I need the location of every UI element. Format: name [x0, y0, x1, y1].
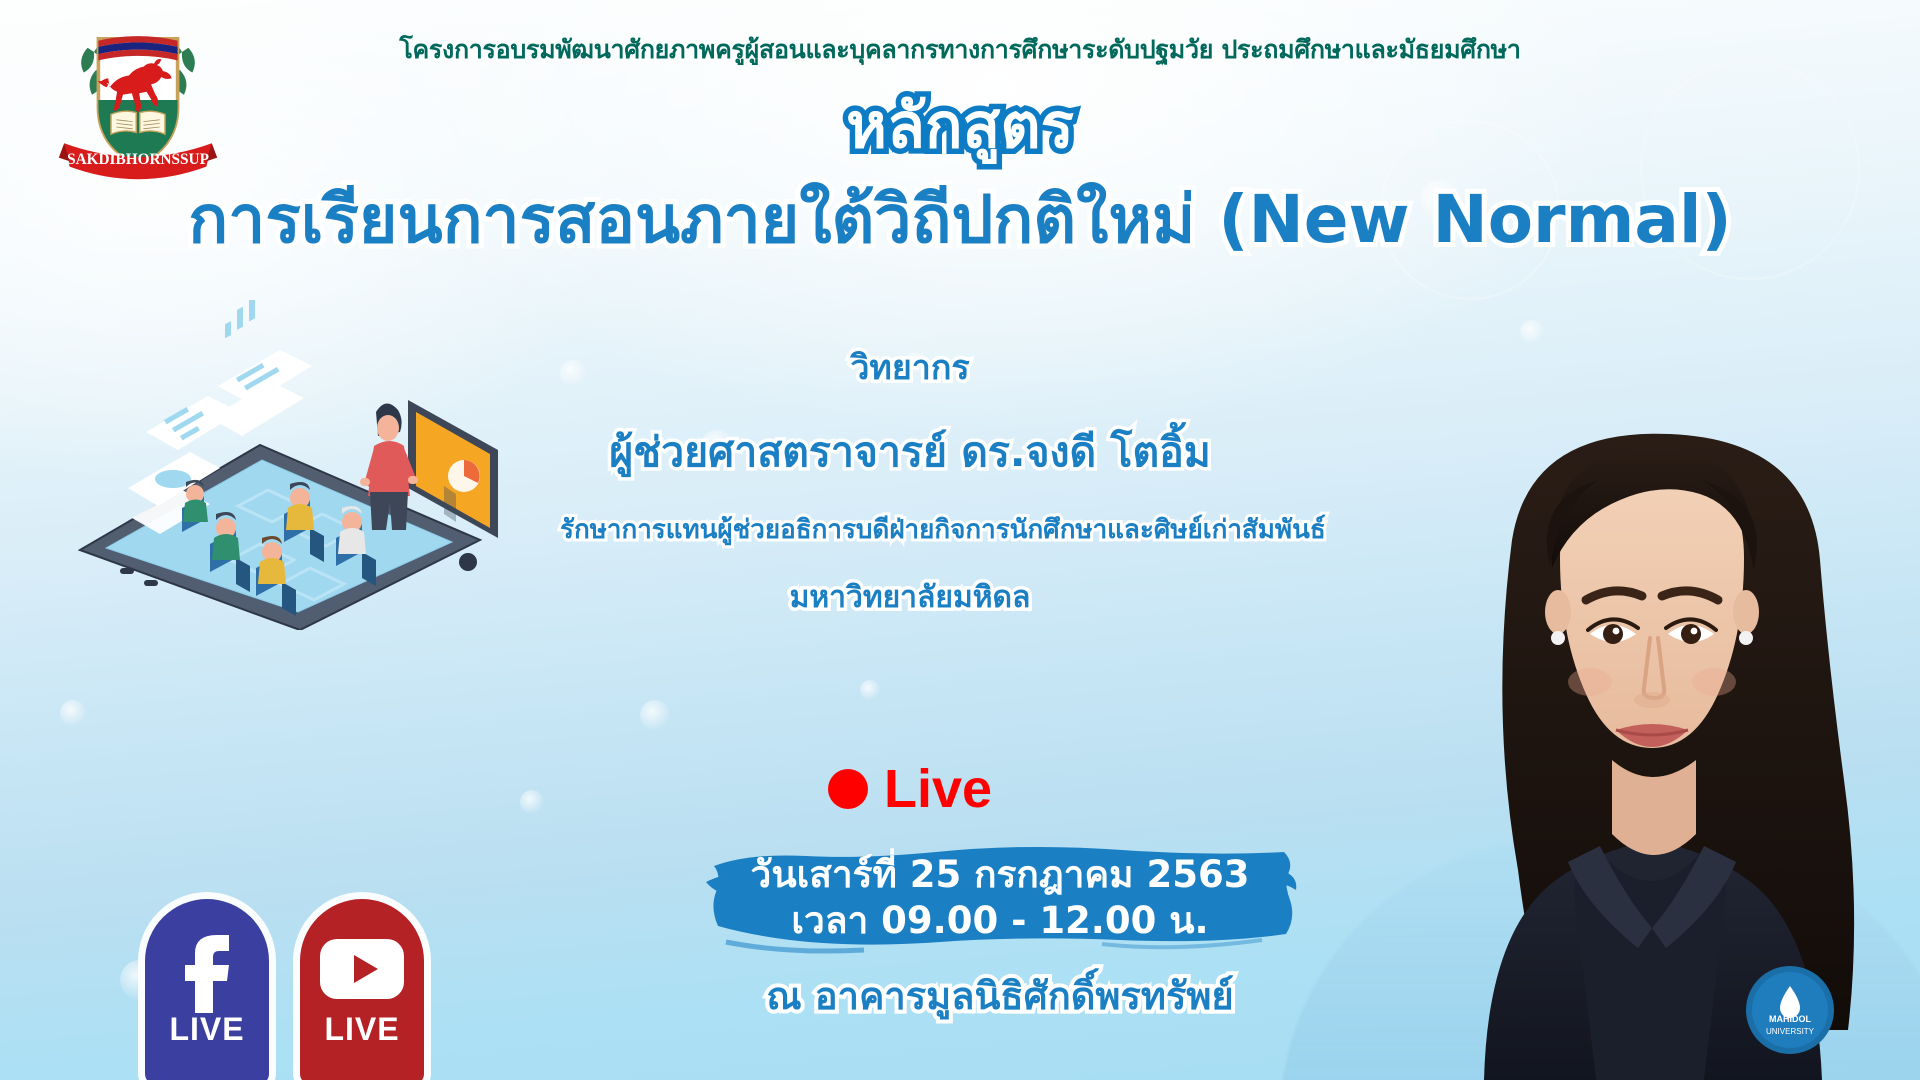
- speaker-role-label: วิทยากร: [560, 340, 1260, 394]
- facebook-live-button[interactable]: LIVE: [145, 899, 269, 1080]
- svg-text:MAHIDOL: MAHIDOL: [1769, 1014, 1811, 1024]
- poster-canvas: SAKDIBHORNSSUP โครงการอบรมพัฒนาศักยภาพคร…: [0, 0, 1920, 1080]
- online-classroom-illustration: [60, 300, 500, 630]
- youtube-live-label: LIVE: [324, 1011, 399, 1048]
- youtube-play-icon: [316, 933, 408, 1005]
- youtube-live-button[interactable]: LIVE: [300, 899, 424, 1080]
- bokeh-dot: [860, 680, 880, 700]
- facebook-f-icon: [173, 925, 241, 1013]
- svg-text:UNIVERSITY: UNIVERSITY: [1766, 1027, 1815, 1036]
- bokeh-dot: [640, 700, 670, 730]
- facebook-live-label: LIVE: [169, 1011, 244, 1048]
- record-dot-icon: [828, 769, 868, 809]
- live-badge: Live: [560, 762, 1260, 816]
- event-venue: ณ อาคารมูลนิธิศักดิ์พรทรัพย์: [640, 965, 1360, 1026]
- speaker-info-block: วิทยากร ผู้ช่วยศาสตราจารย์ ดร.จงดี โตอิ้…: [560, 340, 1260, 621]
- page-title-line-2: การเรียนการสอนภายใต้วิถีปกติใหม่ (New No…: [0, 185, 1920, 254]
- program-header-text: โครงการอบรมพัฒนาศักยภาพครูผู้สอนและบุคลา…: [0, 30, 1920, 70]
- speaker-name: ผู้ช่วยศาสตราจารย์ ดร.จงดี โตอิ้ม: [560, 420, 1260, 485]
- speaker-position: รักษาการแทนผู้ช่วยอธิการบดีฝ่ายกิจการนัก…: [560, 509, 1260, 550]
- event-datetime-banner: วันเสาร์ที่ 25 กรกฎาคม 2563 เวลา 09.00 -…: [700, 838, 1300, 958]
- event-date: วันเสาร์ที่ 25 กรกฎาคม 2563: [751, 853, 1250, 897]
- event-time: เวลา 09.00 - 12.00 น.: [791, 899, 1208, 943]
- live-label: Live: [884, 762, 992, 816]
- bokeh-dot: [520, 790, 544, 814]
- speaker-portrait: MAHIDOL UNIVERSITY: [1400, 290, 1920, 1080]
- page-title-line-1: หลักสูตร: [0, 95, 1920, 157]
- bokeh-dot: [60, 700, 86, 726]
- speaker-organization: มหาวิทยาลัยมหิดล: [560, 574, 1260, 621]
